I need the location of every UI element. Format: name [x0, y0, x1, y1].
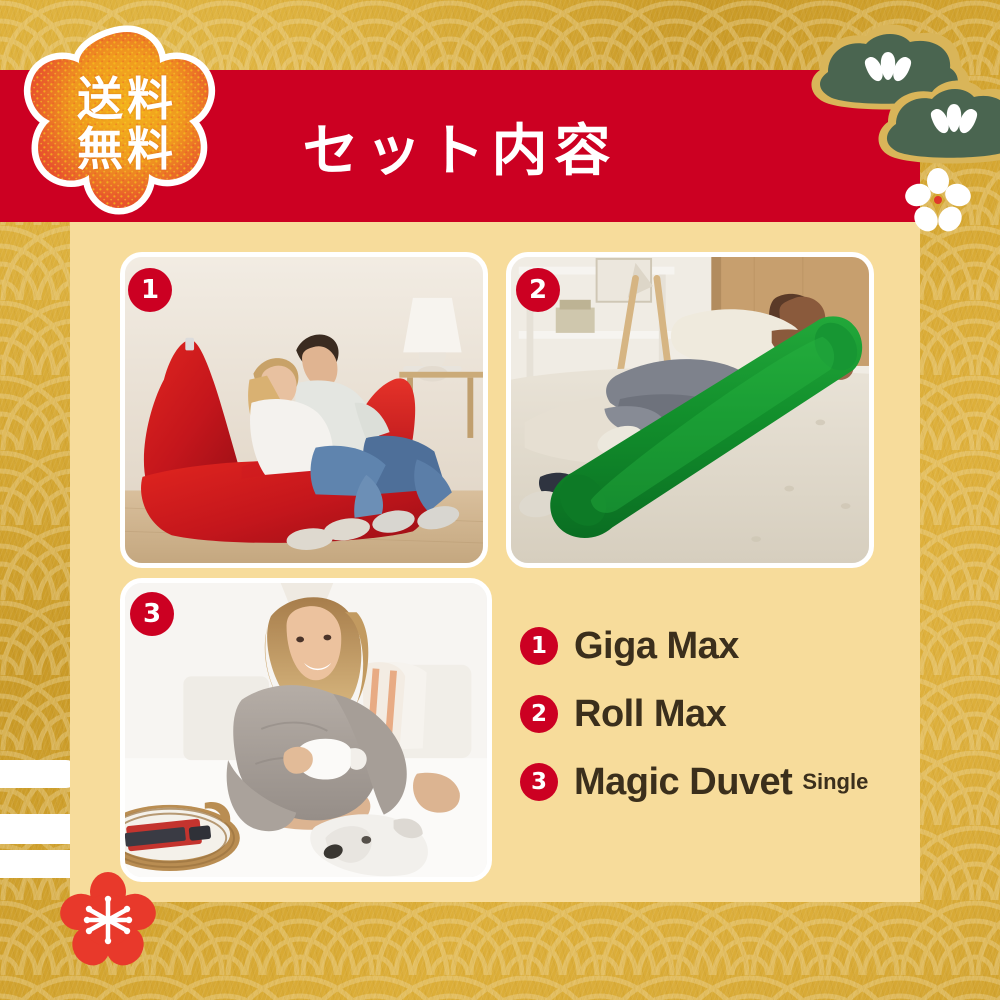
photo-roll-max-image — [511, 257, 869, 564]
list-number-3: 3 — [520, 763, 558, 801]
list-item: 2 Roll Max — [520, 680, 900, 748]
photo-magic-duvet[interactable] — [120, 578, 492, 882]
product-list: 1 Giga Max 2 Roll Max 3 Magic Duvet Sing… — [520, 612, 900, 816]
shipping-label-line2: 無料 — [77, 126, 177, 174]
photo-badge-1: 1 — [128, 268, 172, 312]
shipping-label-line1: 送料 — [77, 76, 177, 124]
list-item: 1 Giga Max — [520, 612, 900, 680]
list-number-1: 1 — [520, 627, 558, 665]
product-variant-3: Single — [802, 769, 868, 795]
red-plum-blossom-icon — [60, 872, 156, 968]
photo-giga-max-image — [125, 257, 483, 564]
free-shipping-badge-label: 送料 無料 — [22, 20, 232, 230]
list-item: 3 Magic Duvet Single — [520, 748, 900, 816]
list-number-2: 2 — [520, 695, 558, 733]
photo-giga-max[interactable] — [120, 252, 488, 568]
product-name-2: Roll Max — [574, 693, 726, 736]
photo-badge-2: 2 — [516, 268, 560, 312]
product-name-3: Magic Duvet — [574, 761, 792, 804]
white-plum-blossom-icon — [905, 168, 971, 234]
photo-roll-max[interactable] — [506, 252, 874, 568]
photo-magic-duvet-image — [125, 583, 487, 879]
photo-badge-3: 3 — [130, 592, 174, 636]
product-name-1: Giga Max — [574, 625, 739, 668]
promo-graphic: セット内容 — [0, 0, 1000, 1000]
